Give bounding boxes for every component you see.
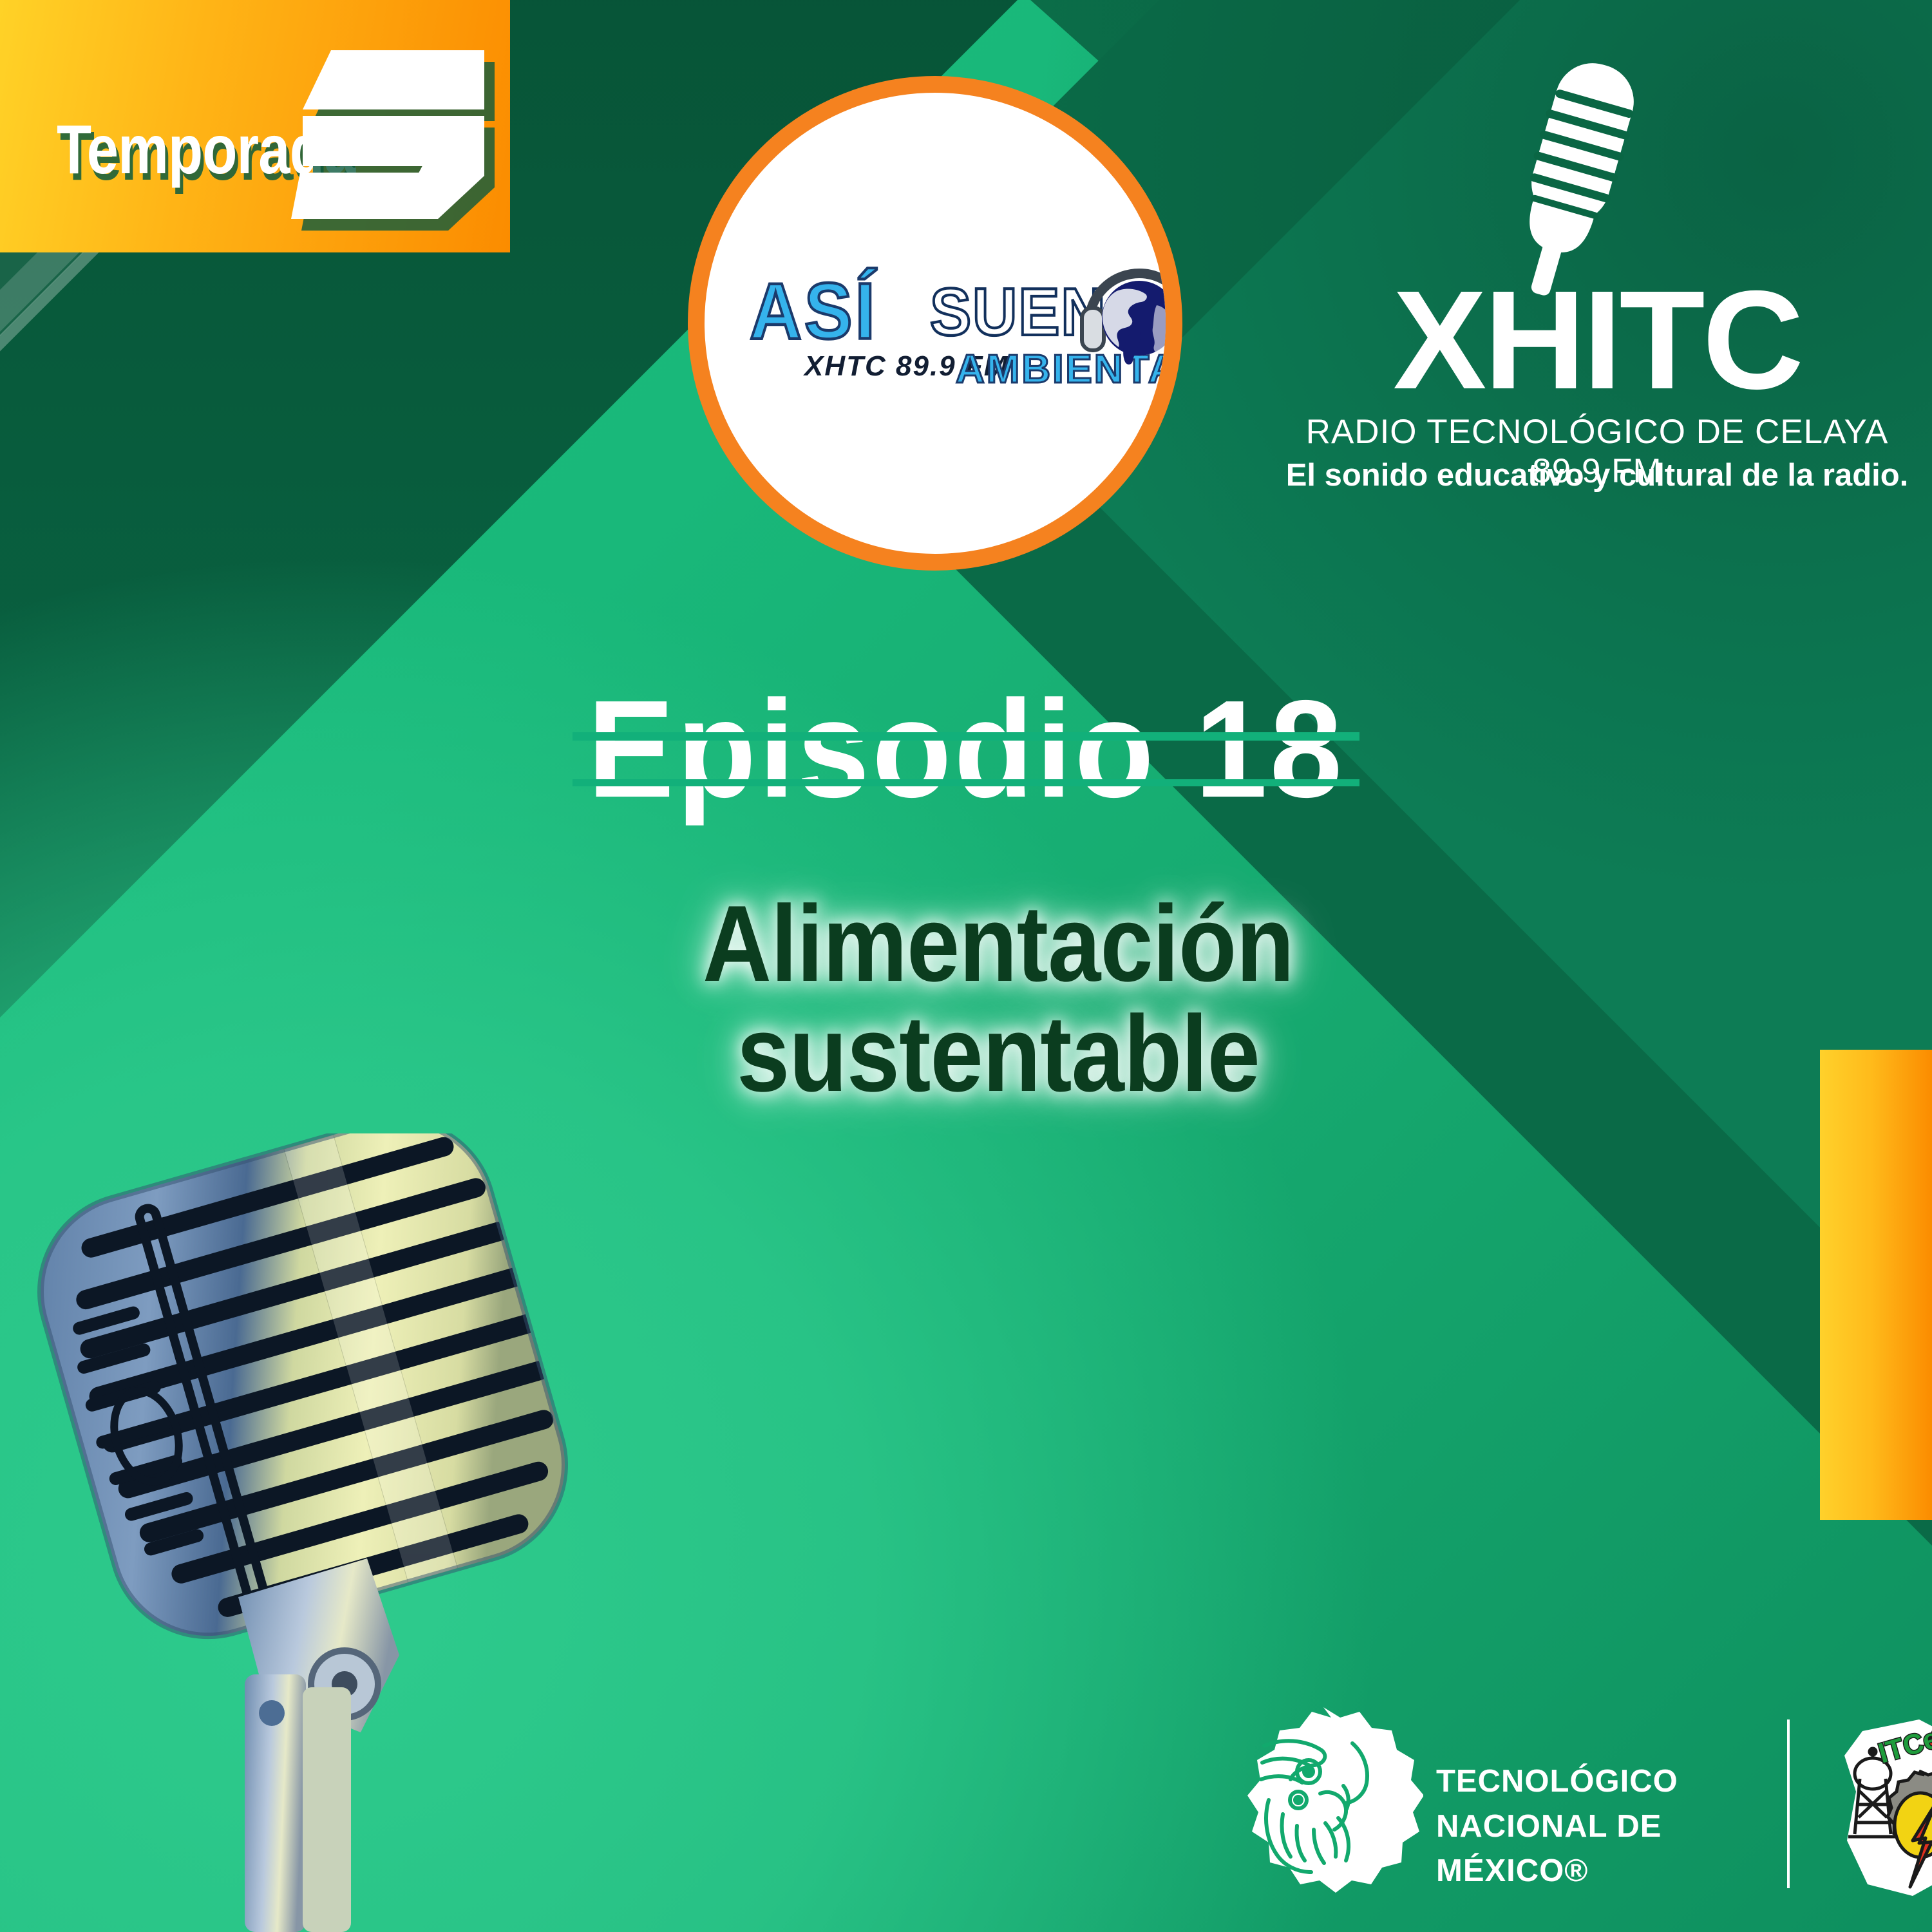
- tecnm-line-2: NACIONAL DE MÉXICO®: [1436, 1804, 1758, 1894]
- season-number-graphic: 5: [291, 37, 484, 231]
- station-callsign: XHITC: [1282, 270, 1913, 411]
- tecnm-line-1: TECNOLÓGICO: [1436, 1759, 1758, 1804]
- aztec-gear-icon: [1224, 1703, 1423, 1903]
- footer-logos: TECNOLÓGICO NACIONAL DE MÉXICO®: [1224, 1700, 1906, 1913]
- station-slogan: El sonido educativo y cultural de la rad…: [1282, 457, 1913, 493]
- show-logo-lockup: ASÍ SUENA XHTC 89.9 FM AMBIENTAL: [743, 265, 1168, 426]
- orange-accent-bar: [1820, 1050, 1932, 1520]
- retro-microphone-photo: [26, 1133, 618, 1932]
- season-badge: Temporada 5: [0, 0, 510, 252]
- station-logo: XHITC RADIO TECNOLÓGICO DE CELAYA 89.9 F…: [1282, 71, 1913, 489]
- episode-cover-poster: Temporada 5 ASÍ SUENA XHTC 89.9 FM AMBIE…: [0, 0, 1932, 1932]
- episode-title: Alimentación sustentable: [516, 889, 1480, 1110]
- episode-number: Episodio 18: [58, 679, 1874, 818]
- itcelaya-emblem-icon: ITCelaya ® ITCelaya: [1823, 1714, 1932, 1901]
- episode-title-line-1: Alimentación: [516, 889, 1480, 999]
- globe-headphones-icon: [1078, 246, 1182, 368]
- episode-title-line-2: sustentable: [516, 999, 1480, 1109]
- show-logo-circle: ASÍ SUENA XHTC 89.9 FM AMBIENTAL: [688, 76, 1182, 571]
- episode-number-label: Episodio 18: [587, 679, 1345, 818]
- show-logo-word-asi: ASÍ: [750, 265, 878, 357]
- tecnm-wordmark: TECNOLÓGICO NACIONAL DE MÉXICO®: [1436, 1759, 1758, 1894]
- footer-divider: [1787, 1719, 1790, 1888]
